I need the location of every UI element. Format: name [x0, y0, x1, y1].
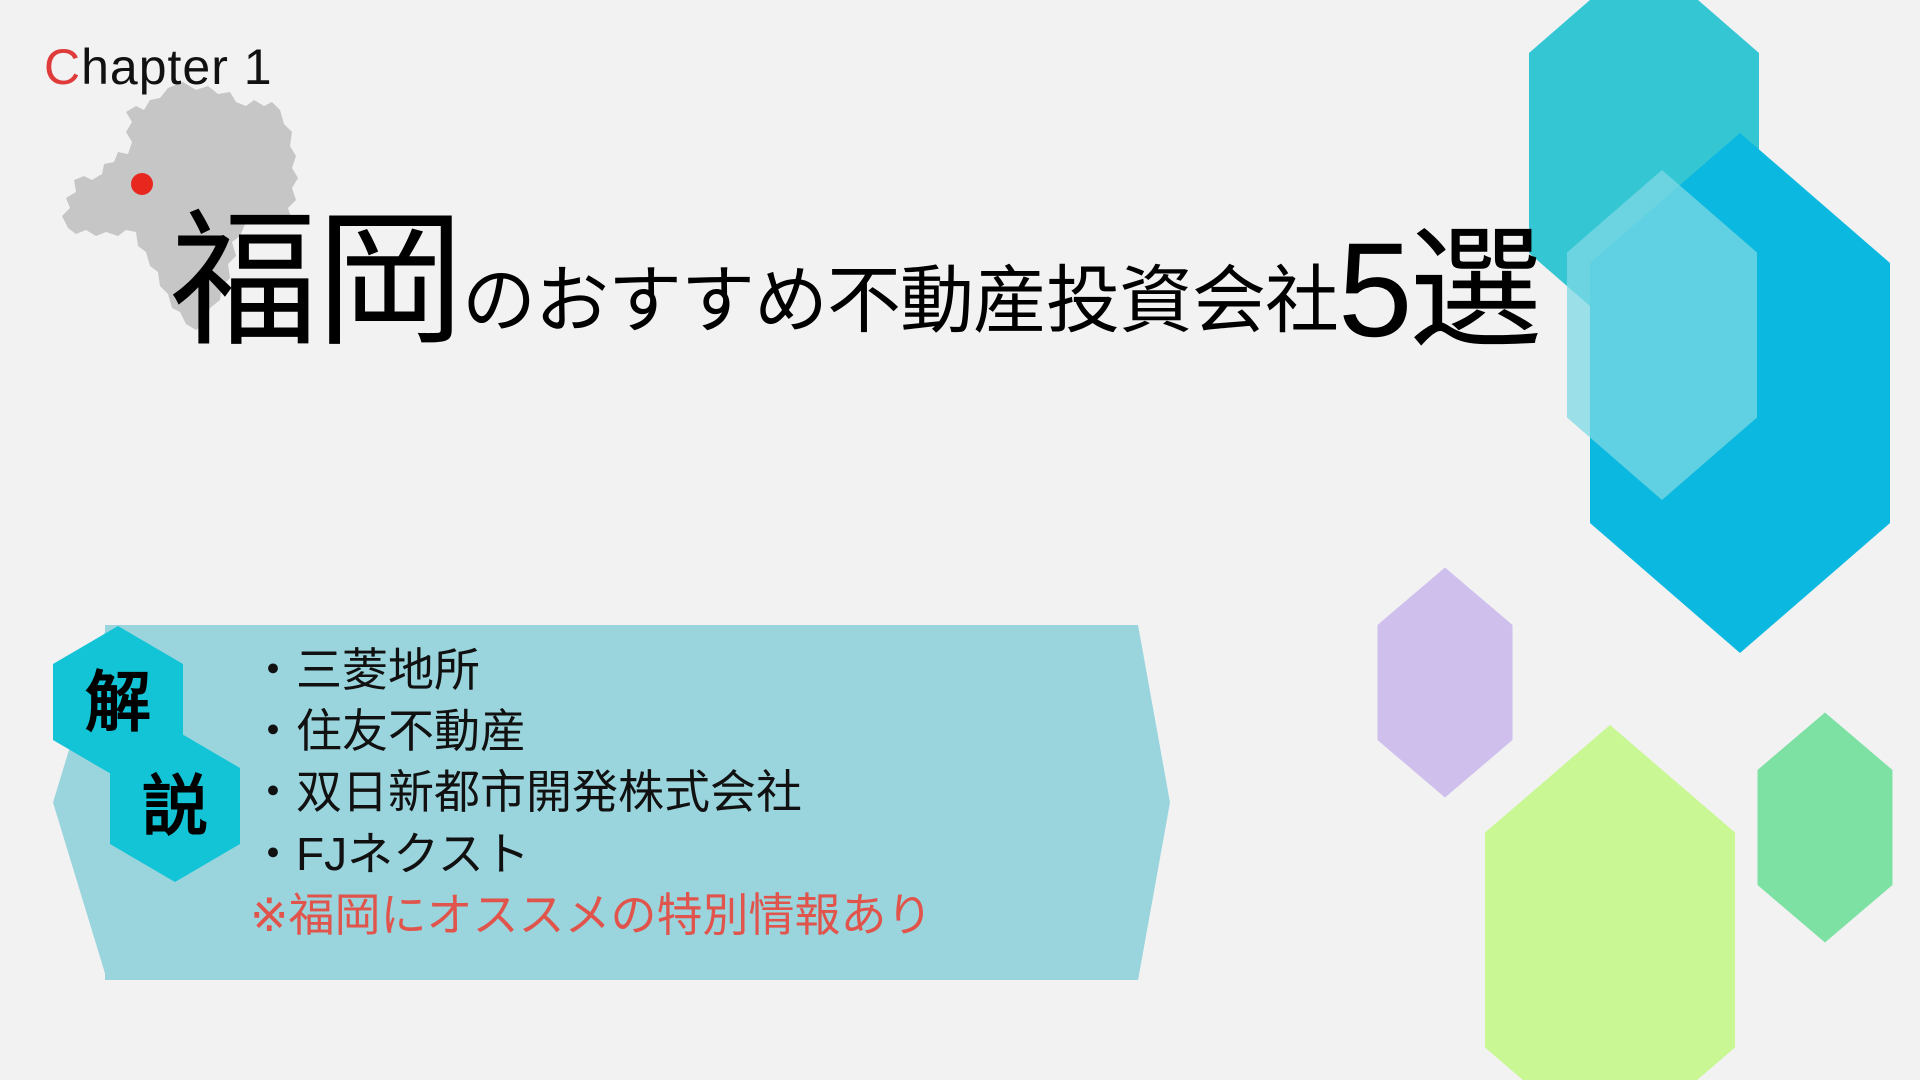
- title-prefecture: 福岡: [170, 208, 462, 356]
- title-middle: のおすすめ不動産投資会社: [462, 264, 1338, 338]
- hexagon-lavender-icon: [1378, 568, 1513, 798]
- chapter-initial: C: [44, 39, 81, 95]
- badge-kai-label: 解: [85, 669, 151, 735]
- company-list: ・三菱地所 ・住友不動産 ・双日新都市開発株式会社 ・FJネクスト ※福岡にオス…: [250, 640, 933, 946]
- page-title: 福岡 のおすすめ不動産投資会社 5選: [170, 208, 1539, 356]
- badge-setsu-label: 説: [142, 773, 208, 839]
- chapter-label: Chapter 1: [44, 38, 273, 96]
- chapter-text: hapter 1: [81, 39, 272, 95]
- special-info-note: ※福岡にオススメの特別情報あり: [250, 885, 933, 946]
- list-item: ・住友不動産: [250, 701, 933, 762]
- list-item: ・FJネクスト: [250, 824, 933, 885]
- hexagon-lime-icon: [1485, 725, 1735, 1080]
- hexagon-green-accent-icon: [1758, 713, 1893, 943]
- slide-canvas: Chapter 1 福岡 のおすすめ不動産投資会社 5選 解 説 ・三菱地所 ・…: [0, 0, 1920, 1080]
- list-item: ・双日新都市開発株式会社: [250, 762, 933, 823]
- map-marker-icon: [131, 173, 153, 195]
- list-item: ・三菱地所: [250, 640, 933, 701]
- title-count: 5選: [1338, 224, 1539, 358]
